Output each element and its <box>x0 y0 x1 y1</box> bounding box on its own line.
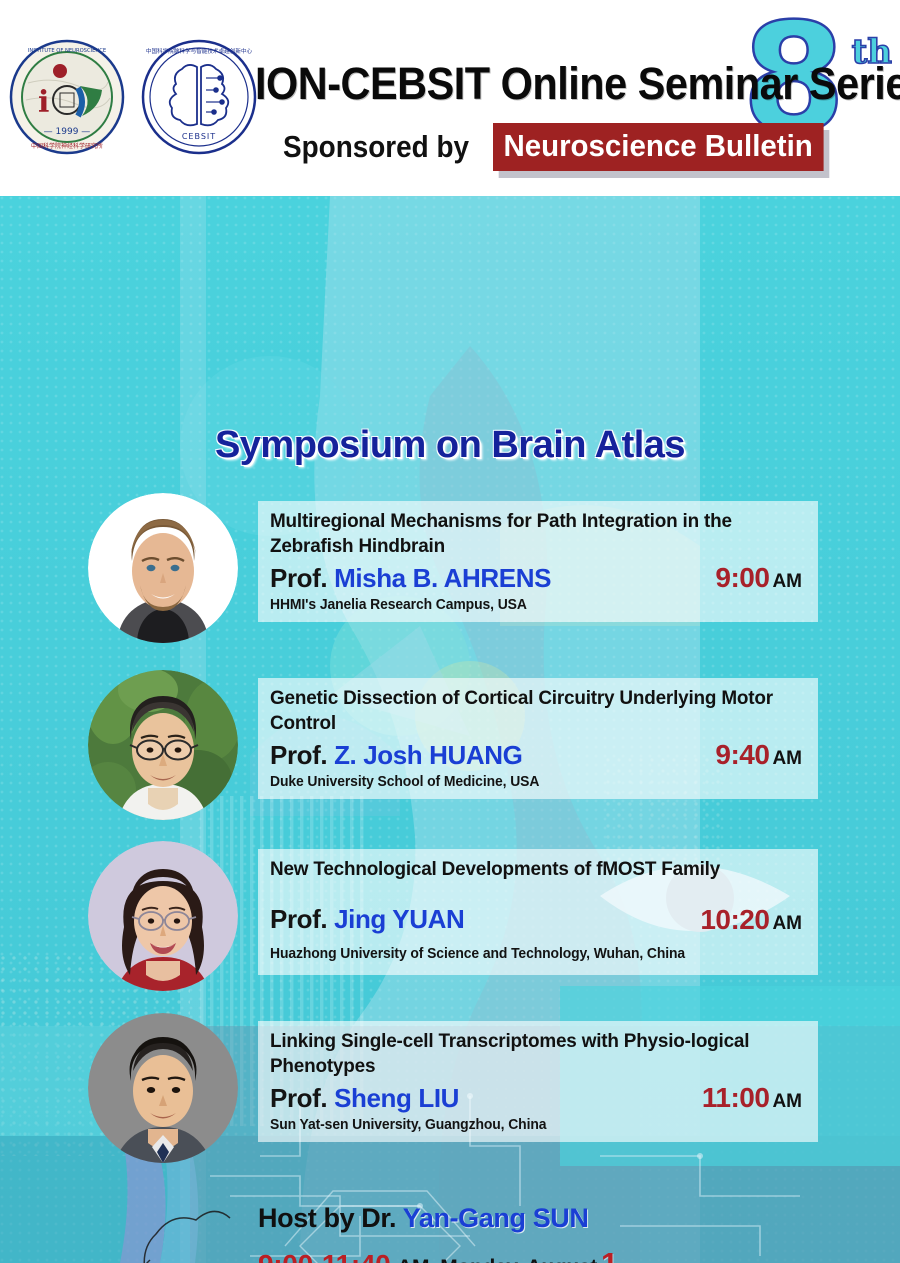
speaker-given-name: Z. Josh <box>334 740 422 770</box>
host-name: Yan-Gang SUN <box>403 1203 589 1233</box>
speaker-name: Prof. Sheng LIU <box>270 1083 459 1114</box>
speaker-given-name: Misha B. <box>334 563 438 593</box>
talk-card: Genetic Dissection of Cortical Circuitry… <box>258 678 818 799</box>
talk-time-ampm: AM <box>772 913 802 934</box>
talk-card: Linking Single-cell Transcriptomes with … <box>258 1021 818 1142</box>
speaker-name: Prof. Z. Josh HUANG <box>270 740 522 771</box>
schedule-day-number: 1 <box>601 1246 618 1263</box>
ion-logo: i — 1999 — INSTITUTE OF NEUROSCIENCE 中国科… <box>8 38 126 156</box>
speaker-photo-ahrens <box>88 493 238 643</box>
schedule-time-range: 9:00-11:40 <box>258 1249 390 1263</box>
speaker-affiliation: Duke University School of Medicine, USA <box>270 774 785 790</box>
speaker-affiliation: HHMI's Janelia Research Campus, USA <box>270 597 785 613</box>
speaker-photo-liu <box>88 1013 238 1163</box>
talk-time-ampm: AM <box>772 571 802 592</box>
talk-time-value: 10:20 <box>700 904 769 935</box>
speaker-given-name: Jing <box>334 904 386 934</box>
organizer-logos: i — 1999 — INSTITUTE OF NEUROSCIENCE 中国科… <box>8 38 258 156</box>
cebsit-logo: CEBSIT 中国科学院脑科学与智能技术卓越创新中心 <box>140 38 258 156</box>
svg-text:i: i <box>38 85 49 120</box>
speaker-prefix: Prof. <box>270 904 327 934</box>
talk-title: Multiregional Mechanisms for Path Integr… <box>270 509 790 558</box>
speaker-prefix: Prof. <box>270 563 327 593</box>
speaker-family-name: AHRENS <box>444 563 551 593</box>
talk-time-value: 9:00 <box>715 562 769 593</box>
event-details: Host by Dr. Yan-Gang SUN 9:00-11:40 AM, … <box>258 1203 878 1263</box>
poster-header: i — 1999 — INSTITUTE OF NEUROSCIENCE 中国科… <box>0 0 900 196</box>
talk-card: New Technological Developments of fMOST … <box>258 849 818 975</box>
symposium-title: Symposium on Brain Atlas <box>0 424 900 467</box>
talk-time-ampm: AM <box>772 748 802 769</box>
svg-text:INSTITUTE OF NEUROSCIENCE: INSTITUTE OF NEUROSCIENCE <box>28 48 106 54</box>
talk-title: Genetic Dissection of Cortical Circuitry… <box>270 686 790 735</box>
talk-speaker-row: Prof. Sheng LIU 11:00AM <box>270 1082 806 1114</box>
talk-time: 9:40AM <box>715 739 806 771</box>
svg-text:— 1999 —: — 1999 — <box>44 127 91 137</box>
svg-text:中国科学院神经科学研究所: 中国科学院神经科学研究所 <box>31 142 103 150</box>
talk-speaker-row: Prof. Misha B. AHRENS 9:00AM <box>270 562 806 594</box>
edition-ordinal: th <box>852 32 892 72</box>
schedule-day-part: AM, Monday, August <box>397 1256 597 1263</box>
speaker-name: Prof. Misha B. AHRENS <box>270 563 551 594</box>
header-title-block: 8 th ION-CEBSIT Online Seminar Series Sp… <box>255 28 900 188</box>
talk-speaker-row: Prof. Z. Josh HUANG 9:40AM <box>270 739 806 771</box>
sponsor-label: Sponsored by <box>283 129 469 165</box>
host-line: Host by Dr. Yan-Gang SUN <box>258 1203 878 1234</box>
schedule-line: 9:00-11:40 AM, Monday, August1 <box>258 1246 878 1263</box>
svg-text:CEBSIT: CEBSIT <box>182 132 216 141</box>
speaker-family-name: YUAN <box>392 904 464 934</box>
speaker-family-name: LIU <box>418 1083 459 1113</box>
talk-time-value: 11:00 <box>702 1082 770 1113</box>
speaker-photo-yuan <box>88 841 238 991</box>
host-label: Host by Dr. <box>258 1203 396 1233</box>
speaker-prefix: Prof. <box>270 1083 327 1113</box>
talk-time: 9:00AM <box>715 562 806 594</box>
speaker-affiliation: Sun Yat-sen University, Guangzhou, China <box>270 1117 785 1133</box>
speaker-affiliation: Huazhong University of Science and Techn… <box>270 946 785 962</box>
talk-card: Multiregional Mechanisms for Path Integr… <box>258 501 818 622</box>
speaker-given-name: Sheng <box>334 1083 411 1113</box>
talk-title: New Technological Developments of fMOST … <box>270 857 790 882</box>
sponsor-name-badge: Neuroscience Bulletin <box>493 123 823 171</box>
poster-body: Symposium on Brain Atlas <box>0 196 900 1263</box>
series-title: ION-CEBSIT Online Seminar Series <box>255 58 900 110</box>
talk-time: 11:00AM <box>702 1082 806 1114</box>
talk-time-ampm: AM <box>772 1091 802 1112</box>
speaker-family-name: HUANG <box>429 740 522 770</box>
talk-time-value: 9:40 <box>715 739 769 770</box>
talk-title: Linking Single-cell Transcriptomes with … <box>270 1029 790 1078</box>
sponsor-row: Sponsored by Neuroscience Bulletin <box>283 123 840 171</box>
speaker-photo-huang <box>88 670 238 820</box>
speaker-name: Prof. Jing YUAN <box>270 904 464 935</box>
talk-time: 10:20AM <box>700 904 806 936</box>
svg-text:中国科学院脑科学与智能技术卓越创新中心: 中国科学院脑科学与智能技术卓越创新中心 <box>146 47 253 55</box>
speaker-prefix: Prof. <box>270 740 327 770</box>
talk-speaker-row: Prof. Jing YUAN 10:20AM <box>270 904 806 936</box>
